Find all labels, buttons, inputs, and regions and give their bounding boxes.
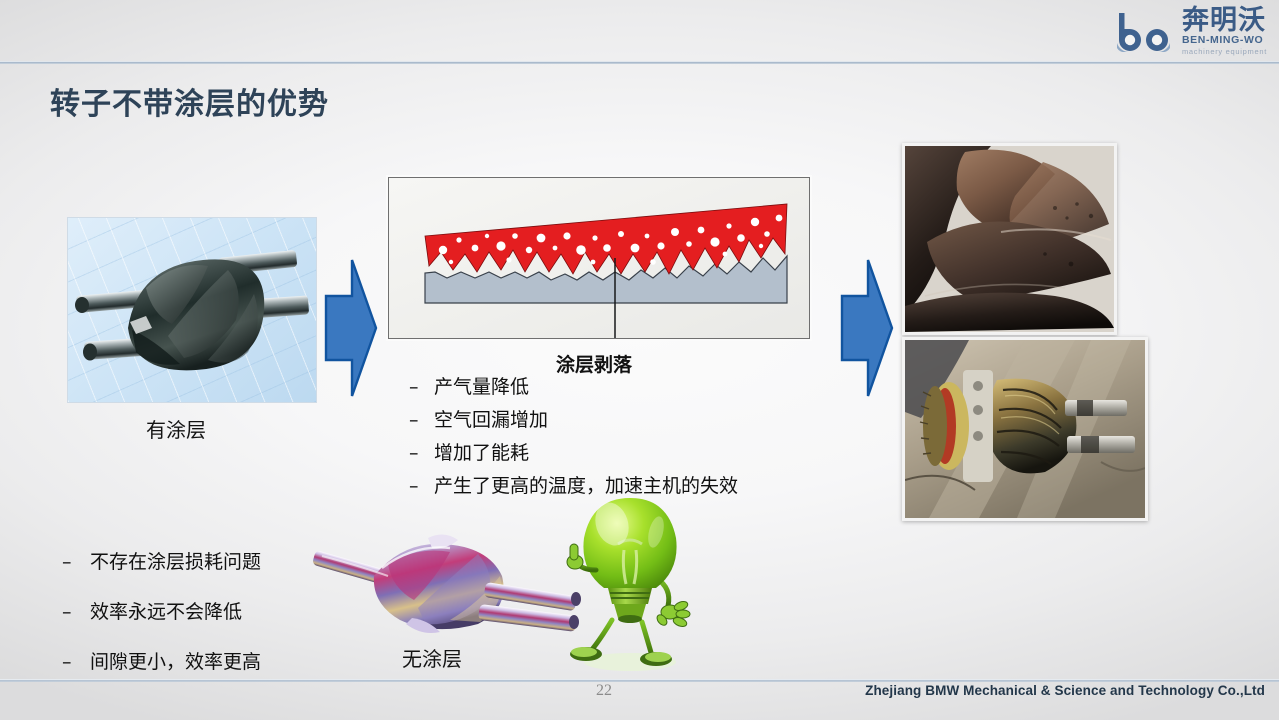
- coated-rotor-photo: [68, 218, 316, 402]
- coated-rotor-caption: 有涂层: [146, 414, 206, 443]
- list-item: – 产气量降低: [409, 372, 738, 399]
- list-item: – 不存在涂层损耗问题: [62, 547, 261, 574]
- slide-canvas: 奔明沃 BEN-MING-WO machinery equipment 转子不带…: [0, 0, 1279, 720]
- list-item-label: 产气量降低: [434, 372, 529, 399]
- bullet-dash: –: [62, 651, 90, 673]
- field-rotor-assembly-photo: [902, 337, 1148, 521]
- advantages-bullet-list: – 不存在涂层损耗问题 – 效率永远不会降低 – 间隙更小，效率更高: [62, 547, 261, 697]
- list-item: – 增加了能耗: [409, 438, 738, 465]
- list-item-label: 间隙更小，效率更高: [90, 647, 261, 674]
- bullet-dash: –: [409, 475, 434, 497]
- bullet-dash: –: [409, 442, 434, 464]
- footer-company-name: Zhejiang BMW Mechanical & Science and Te…: [865, 683, 1265, 698]
- list-item-label: 空气回漏增加: [434, 405, 548, 432]
- list-item: – 间隙更小，效率更高: [62, 647, 261, 674]
- logo-wordmark: 奔明沃 BEN-MING-WO machinery equipment: [1182, 7, 1267, 55]
- page-title: 转子不带涂层的优势: [50, 79, 329, 123]
- list-item: – 空气回漏增加: [409, 405, 738, 432]
- damaged-rotor-photo: [902, 143, 1117, 335]
- bullet-dash: –: [409, 409, 434, 431]
- bullet-dash: –: [62, 551, 90, 573]
- green-lightbulb-thumbs-up-icon: [556, 492, 696, 674]
- footer-divider: [0, 679, 1279, 682]
- page-number: 22: [596, 682, 612, 700]
- list-item-label: 增加了能耗: [434, 438, 529, 465]
- coating-failure-bullet-list: – 产气量降低 – 空气回漏增加 – 增加了能耗 – 产生了更高的温度，加速主机…: [409, 372, 738, 504]
- list-item-label: 效率永远不会降低: [90, 597, 242, 624]
- uncoated-rotor-render: [310, 520, 582, 648]
- logo-chinese-name: 奔明沃: [1182, 7, 1266, 34]
- right-arrow-icon-left: [322, 258, 378, 398]
- uncoated-shiny-screw-rotor-render: [310, 520, 582, 648]
- list-item: – 效率永远不会降低: [62, 597, 261, 624]
- lightbulb-mascot: [556, 492, 696, 674]
- right-arrow-icon-right: [838, 258, 894, 398]
- logo-english-name: BEN-MING-WO: [1182, 35, 1263, 46]
- bullet-dash: –: [409, 376, 434, 398]
- coating-delamination-diagram: [388, 177, 810, 339]
- uncoated-rotor-caption: 无涂层: [402, 643, 462, 672]
- coating-delamination-cross-section-diagram: [389, 178, 809, 338]
- damaged-rotor-closeup-photo: [905, 146, 1114, 332]
- disassembled-rotor-assembly-photo: [905, 340, 1145, 518]
- bullet-dash: –: [62, 601, 90, 623]
- company-logo: 奔明沃 BEN-MING-WO machinery equipment: [1075, 6, 1267, 56]
- coated-screw-rotor-photo: [68, 218, 316, 402]
- list-item-label: 不存在涂层损耗问题: [90, 547, 261, 574]
- header-divider: [0, 61, 1279, 64]
- bo-monogram-logo-icon: [1115, 10, 1177, 52]
- logo-tagline: machinery equipment: [1182, 48, 1267, 56]
